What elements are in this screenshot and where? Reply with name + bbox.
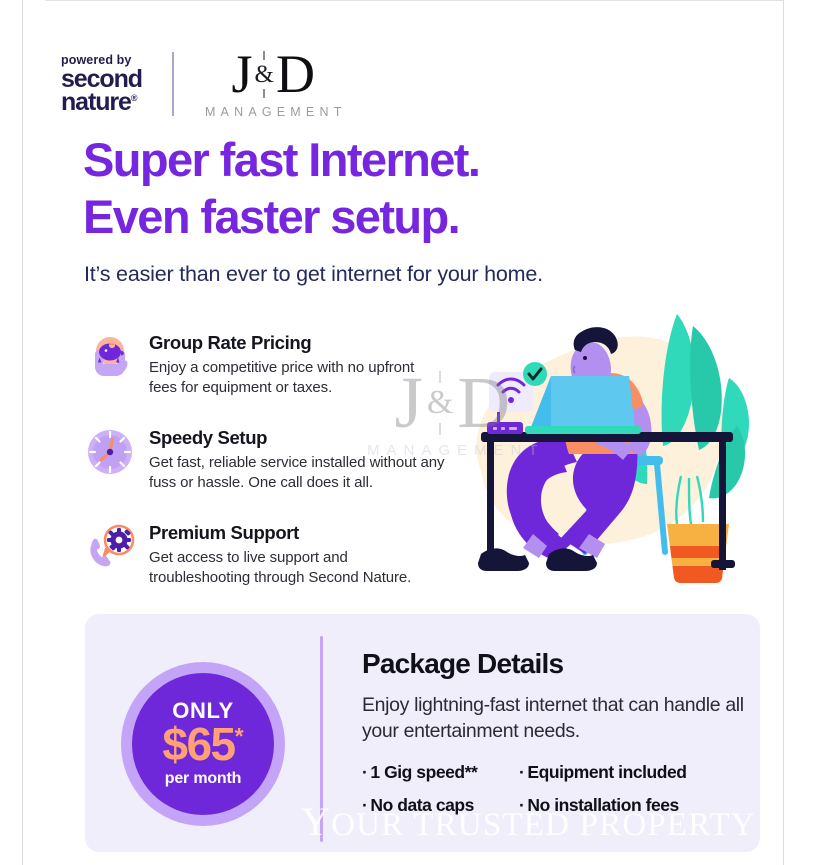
registered-trademark-icon: ®	[131, 94, 138, 103]
feature-text-premium-support: Premium Support Get access to live suppo…	[149, 520, 445, 587]
feature-item-group-rate-pricing: Group Rate Pricing Enjoy a competitive p…	[85, 330, 445, 397]
feature-item-speedy-setup: Speedy Setup Get fast, reliable service …	[85, 425, 445, 492]
page-subtitle: It’s easier than ever to get internet fo…	[84, 262, 734, 287]
feature-description: Get fast, reliable service installed wit…	[149, 453, 445, 492]
feature-title: Premium Support	[149, 522, 445, 544]
feature-item-premium-support: Premium Support Get access to live suppo…	[85, 520, 445, 587]
package-panel-divider	[320, 636, 323, 842]
feature-title: Speedy Setup	[149, 427, 445, 449]
package-feature-label: 1 Gig speed**	[370, 762, 477, 782]
second-nature-word-nature: nature	[61, 91, 131, 114]
package-feature-item: ·1 Gig speed**	[362, 762, 519, 783]
feature-description: Enjoy a competitive price with no upfron…	[149, 358, 445, 397]
bullet-icon: ·	[519, 762, 524, 782]
package-feature-item: ·No data caps	[362, 795, 519, 816]
page-left-margin	[0, 0, 22, 865]
page-top-rule	[45, 0, 784, 1]
jd-management-logo: J & D MANAGEMENT	[200, 49, 347, 118]
second-nature-logo: powered by second nature ®	[61, 54, 142, 115]
bullet-icon: ·	[362, 795, 367, 815]
clock-icon	[85, 427, 135, 477]
price-badge: ONLY $65 * per month	[121, 662, 285, 826]
jd-ampersand: &	[255, 62, 274, 87]
package-feature-label: No installation fees	[527, 795, 678, 815]
piggy-bank-in-hands-icon	[85, 332, 135, 382]
jd-monogram: J & D	[232, 49, 315, 100]
package-feature-label: No data caps	[370, 795, 474, 815]
price-period-label: per month	[165, 770, 241, 788]
person-at-desk-with-laptop-illustration	[441, 296, 784, 596]
package-feature-item: ·Equipment included	[519, 762, 744, 783]
jd-subtitle: MANAGEMENT	[205, 105, 347, 119]
package-description: Enjoy lightning-fast internet that can h…	[362, 693, 744, 745]
flyer-page: powered by second nature ® J & D MANAGEM…	[22, 0, 784, 865]
jd-letter-d: D	[276, 49, 315, 100]
logo-divider	[172, 52, 174, 116]
jd-tick-bottom	[263, 89, 265, 98]
bullet-icon: ·	[362, 762, 367, 782]
feature-list: Group Rate Pricing Enjoy a competitive p…	[85, 330, 445, 615]
jd-tick-top	[263, 51, 265, 60]
feature-text-group-rate-pricing: Group Rate Pricing Enjoy a competitive p…	[149, 330, 445, 397]
price-amount-row: $65 *	[162, 724, 243, 765]
feature-description: Get access to live support and troublesh…	[149, 548, 445, 587]
price-badge-inner: ONLY $65 * per month	[132, 673, 274, 815]
bullet-icon: ·	[519, 795, 524, 815]
package-title: Package Details	[362, 648, 744, 680]
package-feature-grid: ·1 Gig speed** ·Equipment included ·No d…	[362, 762, 744, 816]
page-right-margin	[785, 0, 813, 865]
package-details-body: Package Details Enjoy lightning-fast int…	[362, 648, 744, 816]
package-feature-label: Equipment included	[527, 762, 686, 782]
phone-support-gear-icon	[85, 522, 135, 572]
second-nature-word-nature-wrap: nature ®	[61, 91, 137, 114]
feature-text-speedy-setup: Speedy Setup Get fast, reliable service …	[149, 425, 445, 492]
logo-row: powered by second nature ® J & D MANAGEM…	[61, 48, 347, 120]
feature-title: Group Rate Pricing	[149, 332, 445, 354]
jd-ampersand-column: &	[255, 51, 274, 98]
price-asterisk: *	[235, 726, 244, 747]
price-amount: $65	[162, 724, 234, 765]
package-feature-item: ·No installation fees	[519, 795, 744, 816]
headline-line-1: Super fast Internet.	[83, 131, 723, 188]
page-title: Super fast Internet. Even faster setup.	[83, 131, 723, 246]
headline-line-2: Even faster setup.	[83, 188, 723, 245]
jd-letter-j: J	[232, 49, 253, 100]
